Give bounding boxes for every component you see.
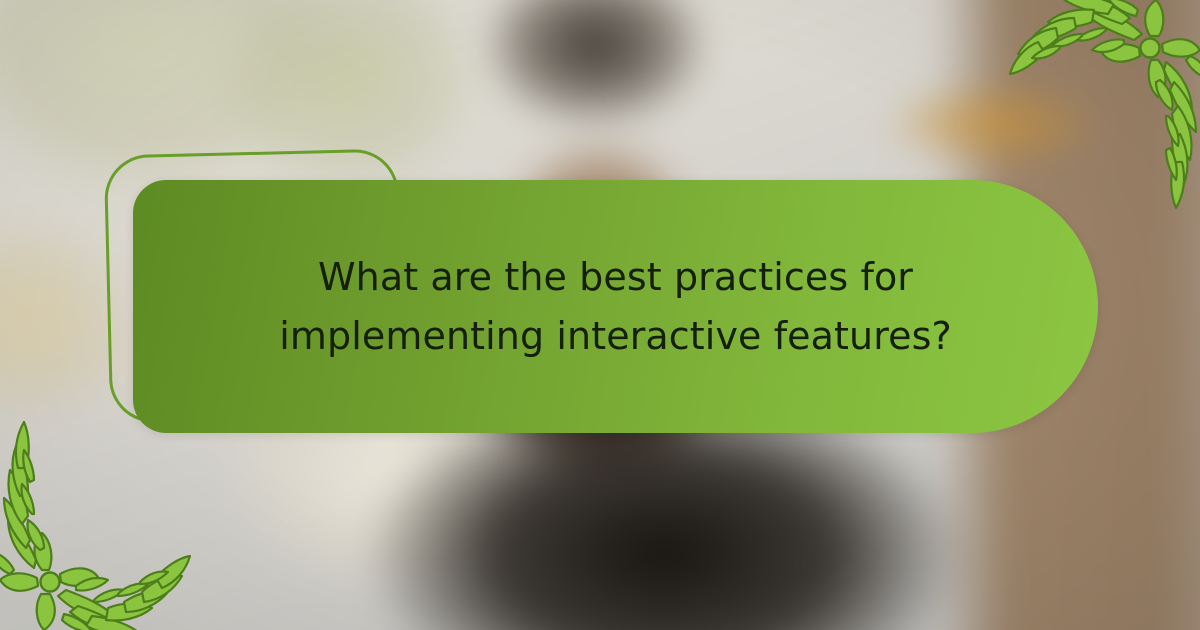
question-text: What are the best practices for implemen… (196, 248, 1036, 366)
question-card-banner: What are the best practices for implemen… (0, 0, 1200, 630)
question-card[interactable]: What are the best practices for implemen… (133, 180, 1098, 433)
